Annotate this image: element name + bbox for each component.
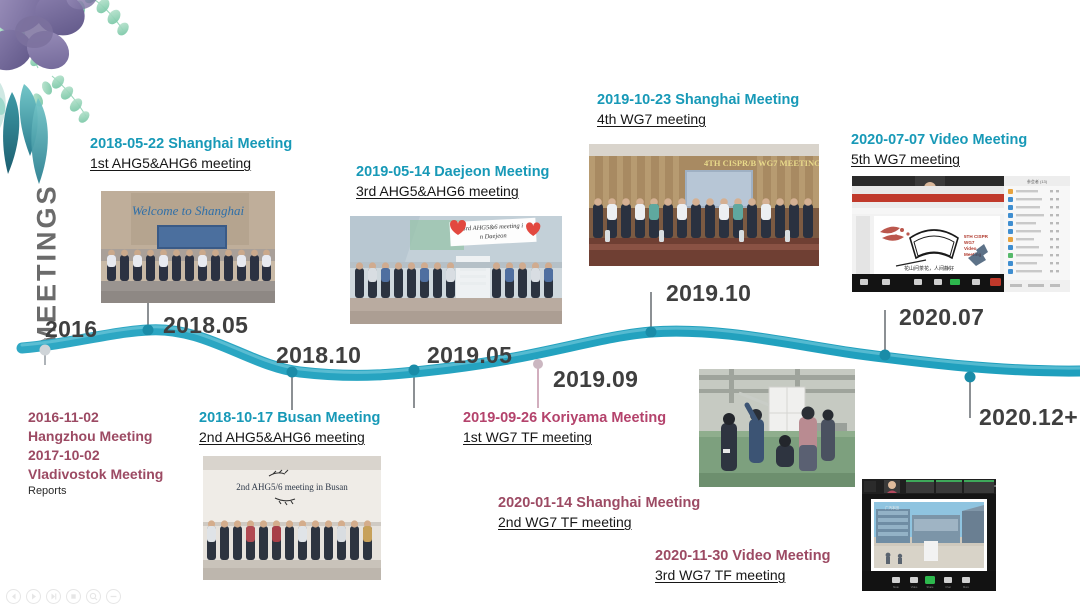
meeting-note-reports: Reports (28, 484, 163, 499)
minus-icon[interactable] (106, 589, 121, 604)
year-label-201805: 2018.05 (163, 312, 248, 339)
meeting-subtitle: 5th WG7 meeting (851, 150, 960, 169)
year-label-202012: 2020.12+ (979, 404, 1078, 431)
meeting-block-busan-2018: 2018-10-17 Busan Meeting 2nd AHG5&AHG6 m… (199, 409, 380, 447)
svg-text:Chat: Chat (945, 585, 951, 589)
meeting-heading: 2020-07-07 Video Meeting (851, 131, 1027, 150)
photo-koriyama-lab (699, 369, 855, 487)
svg-text:Video: Video (911, 585, 918, 589)
slide-canvas: MEETINGS (0, 0, 1080, 608)
media-player-controls[interactable] (6, 589, 121, 604)
meeting-subtitle: 4th WG7 meeting (597, 110, 706, 129)
year-label-201910: 2019.10 (666, 280, 751, 307)
prev-icon[interactable] (6, 589, 21, 604)
photo-shanghai-2019: 4TH CISPR/B WG7 MEETING IN SHANGHAI (589, 144, 819, 266)
photo-caption-text: 4TH CISPR/B WG7 MEETING IN SHANGHAI (704, 158, 819, 168)
meeting-heading: 2019-09-26 Koriyama Meeting (463, 409, 666, 428)
svg-text:花山问茶花，人间静好: 花山问茶花，人间静好 (904, 265, 954, 272)
meeting-line-4: Vladivostok Meeting (28, 465, 163, 484)
svg-text:More: More (963, 585, 969, 589)
stop-icon[interactable] (66, 589, 81, 604)
meeting-subtitle: 2nd WG7 TF meeting (498, 513, 632, 532)
meeting-subtitle: 3rd WG7 TF meeting (655, 566, 785, 585)
meeting-heading: 2020-11-30 Video Meeting (655, 547, 830, 566)
meeting-heading: 2020-01-14 Shanghai Meeting (498, 494, 700, 513)
photo-daejeon-2019: 3rd AHG5&6 meeting i n Daejeon (350, 216, 562, 324)
meeting-block-video-2020-07: 2020-07-07 Video Meeting 5th WG7 meeting (851, 131, 1027, 169)
photo-busan-2018: 2nd AHG5/6 meeting in Busan (203, 456, 381, 580)
meeting-block-video-2020-11: 2020-11-30 Video Meeting 3rd WG7 TF meet… (655, 547, 830, 585)
meeting-line-2: Hangzhou Meeting (28, 427, 163, 446)
svg-text:参会者 (13): 参会者 (13) (1027, 178, 1048, 184)
meeting-line-3: 2017-10-02 (28, 446, 163, 465)
year-label-201810: 2018.10 (276, 342, 361, 369)
photo-video-2020-07: 5TH CISPR WG7 Video Meeting 花山问茶花，人间静好 参… (852, 176, 1070, 292)
svg-text:5TH CISPR: 5TH CISPR (964, 234, 989, 239)
meeting-heading: 2019-05-14 Daejeon Meeting (356, 163, 549, 182)
year-label-202007: 2020.07 (899, 304, 984, 331)
svg-text:n Daejeon: n Daejeon (480, 232, 507, 240)
meeting-block-koriyama-2019: 2019-09-26 Koriyama Meeting 1st WG7 TF m… (463, 409, 666, 447)
meeting-subtitle: 1st WG7 TF meeting (463, 428, 592, 447)
meeting-block-hangzhou-vladivostok: 2016-11-02 Hangzhou Meeting 2017-10-02 V… (28, 408, 163, 499)
svg-text:广汽本田: 广汽本田 (885, 505, 899, 510)
svg-text:Share: Share (927, 585, 934, 589)
meeting-subtitle: 2nd AHG5&AHG6 meeting (199, 428, 365, 447)
meeting-block-shanghai-2018: 2018-05-22 Shanghai Meeting 1st AHG5&AHG… (90, 135, 292, 173)
botanical-decoration (0, 0, 140, 218)
photo-video-2020-11: Event Meeting Agnès (FR) Yasutoshi Taich… (862, 479, 996, 591)
next-icon[interactable] (46, 589, 61, 604)
meeting-block-shanghai-2019: 2019-10-23 Shanghai Meeting 4th WG7 meet… (597, 91, 799, 129)
svg-text:Mute: Mute (893, 585, 899, 589)
meeting-heading: 2018-10-17 Busan Meeting (199, 409, 380, 428)
meeting-subtitle: 1st AHG5&AHG6 meeting (90, 154, 251, 173)
year-label-201905: 2019.05 (427, 342, 512, 369)
year-label-201909: 2019.09 (553, 366, 638, 393)
play-icon[interactable] (26, 589, 41, 604)
meeting-heading: 2019-10-23 Shanghai Meeting (597, 91, 799, 110)
search-icon[interactable] (86, 589, 101, 604)
svg-text:WG7: WG7 (964, 240, 975, 245)
svg-text:Video: Video (964, 246, 977, 251)
photo-caption-text: Welcome to Shanghai (132, 203, 245, 218)
photo-caption-text: 2nd AHG5/6 meeting in Busan (236, 482, 348, 492)
year-label-2016: 2016 (45, 316, 97, 343)
photo-shanghai-2018: Welcome to Shanghai (101, 191, 275, 303)
meeting-heading: 2018-05-22 Shanghai Meeting (90, 135, 292, 154)
meeting-subtitle: 3rd AHG5&AHG6 meeting (356, 182, 519, 201)
meeting-block-daejeon-2019: 2019-05-14 Daejeon Meeting 3rd AHG5&AHG6… (356, 163, 549, 201)
meeting-line-1: 2016-11-02 (28, 408, 163, 427)
meeting-block-shanghai-2020: 2020-01-14 Shanghai Meeting 2nd WG7 TF m… (498, 494, 700, 532)
